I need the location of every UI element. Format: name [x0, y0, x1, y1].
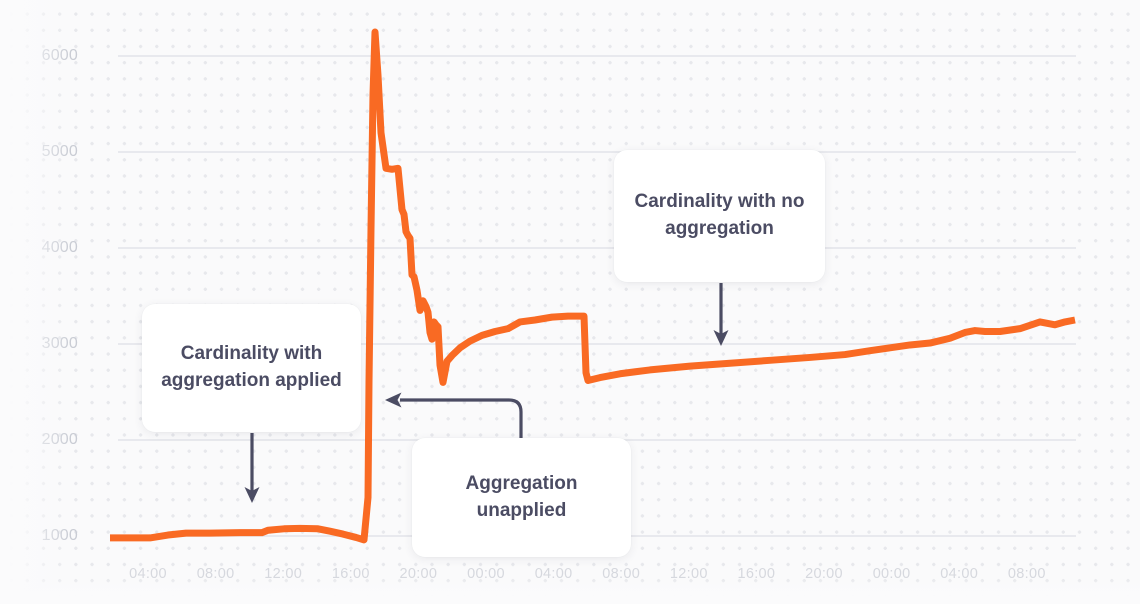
annotation-cardinality-with-no-aggregation: Cardinality with no aggregation: [614, 150, 825, 282]
arrow-head-aggregation-unapplied: [385, 393, 402, 408]
y-axis-tick-label: 4000: [18, 239, 78, 257]
x-axis-tick-label: 12:00: [264, 566, 302, 582]
y-axis-tick-label: 3000: [18, 335, 78, 353]
x-axis-tick-label: 00:00: [467, 566, 505, 582]
x-axis-tick-label: 04:00: [129, 566, 167, 582]
y-axis-tick-label: 5000: [18, 143, 78, 161]
annotation-label: Cardinality with aggregation applied: [160, 341, 343, 395]
x-axis-tick-label: 16:00: [737, 566, 775, 582]
x-axis-tick-label: 20:00: [399, 566, 437, 582]
y-axis-tick-label: 1000: [18, 527, 78, 545]
x-axis-tick-label: 00:00: [873, 566, 911, 582]
x-axis-tick-label: 08:00: [1008, 566, 1046, 582]
x-axis-tick-label: 08:00: [197, 566, 235, 582]
annotation-label: Cardinality with no aggregation: [632, 189, 807, 243]
annotation-label: Aggregation unapplied: [430, 471, 613, 525]
x-axis-tick-label: 20:00: [805, 566, 843, 582]
x-axis-tick-label: 16:00: [332, 566, 370, 582]
x-axis-tick-label: 04:00: [535, 566, 573, 582]
cardinality-chart: 100020003000400050006000 04:0008:0012:00…: [0, 0, 1140, 604]
annotation-aggregation-unapplied: Aggregation unapplied: [412, 438, 631, 557]
annotation-cardinality-with-aggregation-applied: Cardinality with aggregation applied: [142, 304, 361, 432]
x-axis-tick-label: 12:00: [670, 566, 708, 582]
x-axis-tick-label: 08:00: [602, 566, 640, 582]
arrow-line-aggregation-unapplied: [400, 400, 521, 438]
y-axis-tick-label: 2000: [18, 431, 78, 449]
x-axis-tick-label: 04:00: [940, 566, 978, 582]
y-axis-tick-label: 6000: [18, 47, 78, 65]
